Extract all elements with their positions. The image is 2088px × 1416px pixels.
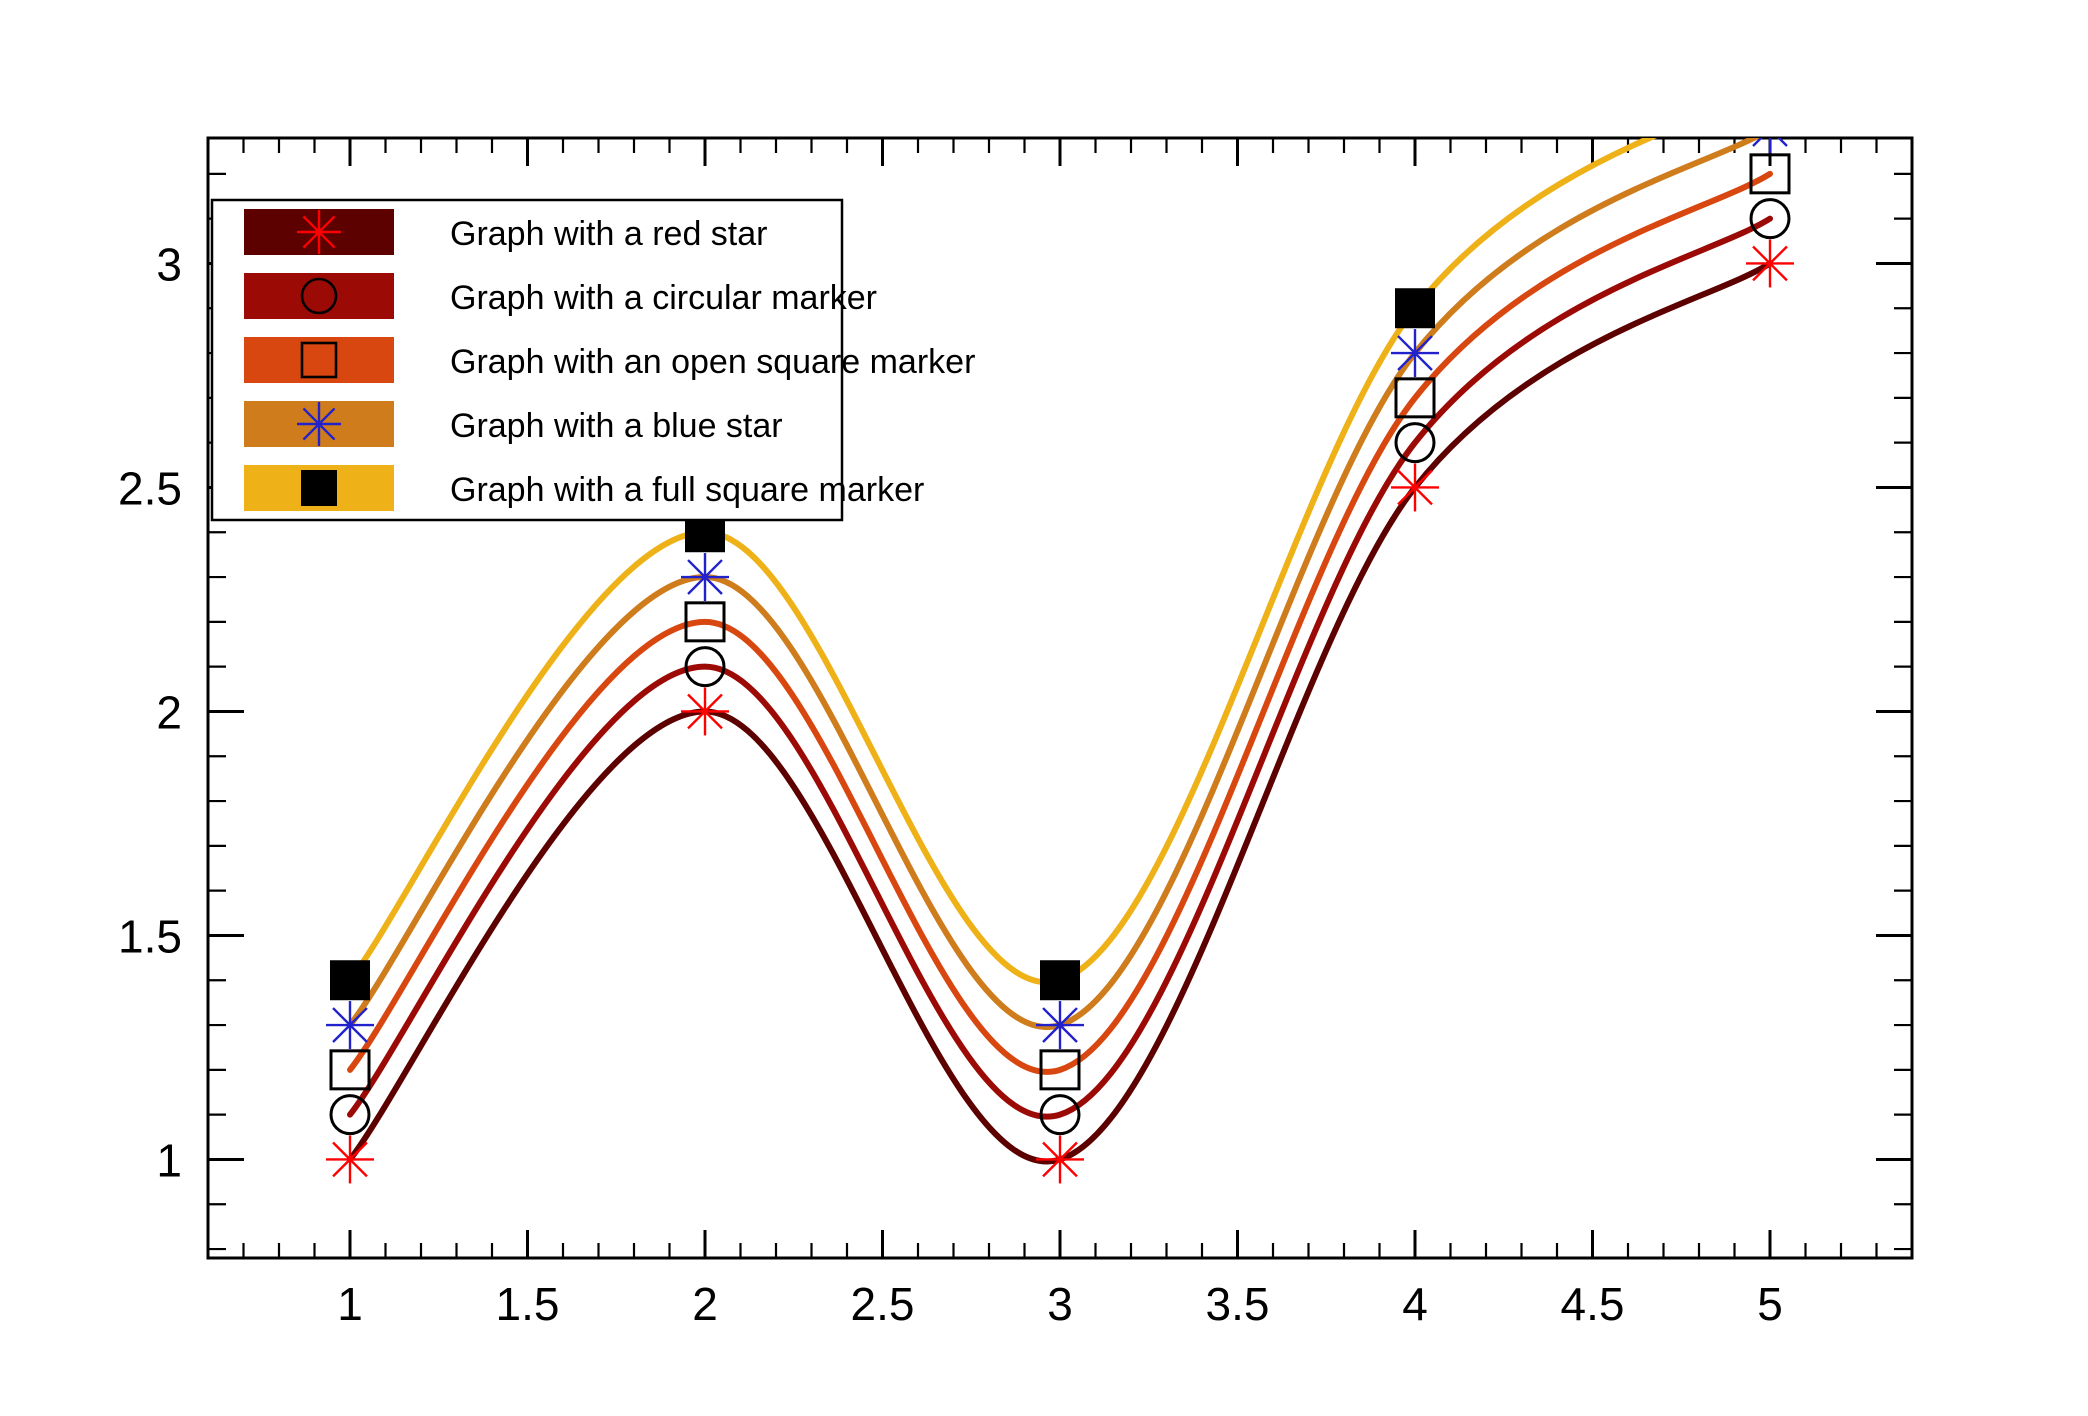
- y-axis-tick-label: 3: [156, 238, 182, 290]
- legend-item[interactable]: Graph with a red star: [244, 209, 767, 255]
- data-point-marker: [326, 1135, 374, 1183]
- data-point-marker: [330, 960, 370, 1000]
- data-point-marker: [1395, 288, 1435, 328]
- data-point-marker: [1036, 1001, 1084, 1049]
- data-point-marker: [1746, 105, 1794, 153]
- legend-item[interactable]: Graph with a full square marker: [244, 465, 924, 511]
- data-point-marker: [1391, 463, 1439, 511]
- x-axis-tick-label: 1: [337, 1278, 363, 1330]
- legend-item[interactable]: Graph with a circular marker: [244, 273, 877, 319]
- x-axis-tick-label: 3.5: [1206, 1278, 1270, 1330]
- data-point-marker: [1036, 1135, 1084, 1183]
- data-point-marker: [326, 1001, 374, 1049]
- data-point-marker: [1746, 239, 1794, 287]
- plot-svg: 11.522.533.544.5511.522.53Graph with a r…: [0, 0, 2088, 1416]
- y-axis-tick-label: 2: [156, 686, 182, 738]
- legend-item-label: Graph with an open square marker: [450, 343, 975, 381]
- y-axis-tick-label: 1: [156, 1134, 182, 1186]
- legend-item-label: Graph with a red star: [450, 215, 767, 253]
- x-axis-tick-label: 4: [1402, 1278, 1428, 1330]
- data-point-marker: [681, 687, 729, 735]
- y-axis-tick-label: 1.5: [118, 910, 182, 962]
- x-axis-tick-label: 2: [692, 1278, 718, 1330]
- legend-item-label: Graph with a blue star: [450, 407, 783, 445]
- legend-item[interactable]: Graph with a blue star: [244, 401, 783, 447]
- x-axis-tick-label: 3: [1047, 1278, 1073, 1330]
- full-square-marker: [330, 960, 370, 1000]
- full-square-marker-icon: [301, 470, 337, 506]
- legend-item[interactable]: Graph with an open square marker: [244, 337, 975, 383]
- full-square-marker: [1395, 288, 1435, 328]
- full-square-marker: [1040, 960, 1080, 1000]
- legend-item-label: Graph with a full square marker: [450, 471, 924, 509]
- legend-item-label: Graph with a circular marker: [450, 279, 877, 317]
- x-axis-tick-label: 2.5: [851, 1278, 915, 1330]
- x-axis-tick-label: 4.5: [1561, 1278, 1625, 1330]
- x-axis-tick-label: 5: [1757, 1278, 1783, 1330]
- legend: Graph with a red starGraph with a circul…: [212, 200, 975, 520]
- data-point-marker: [1391, 329, 1439, 377]
- data-point-marker: [1040, 960, 1080, 1000]
- chart-canvas: 11.522.533.544.5511.522.53Graph with a r…: [0, 0, 2088, 1416]
- x-axis-tick-label: 1.5: [496, 1278, 560, 1330]
- data-point-marker: [681, 553, 729, 601]
- y-axis-tick-label: 2.5: [118, 462, 182, 514]
